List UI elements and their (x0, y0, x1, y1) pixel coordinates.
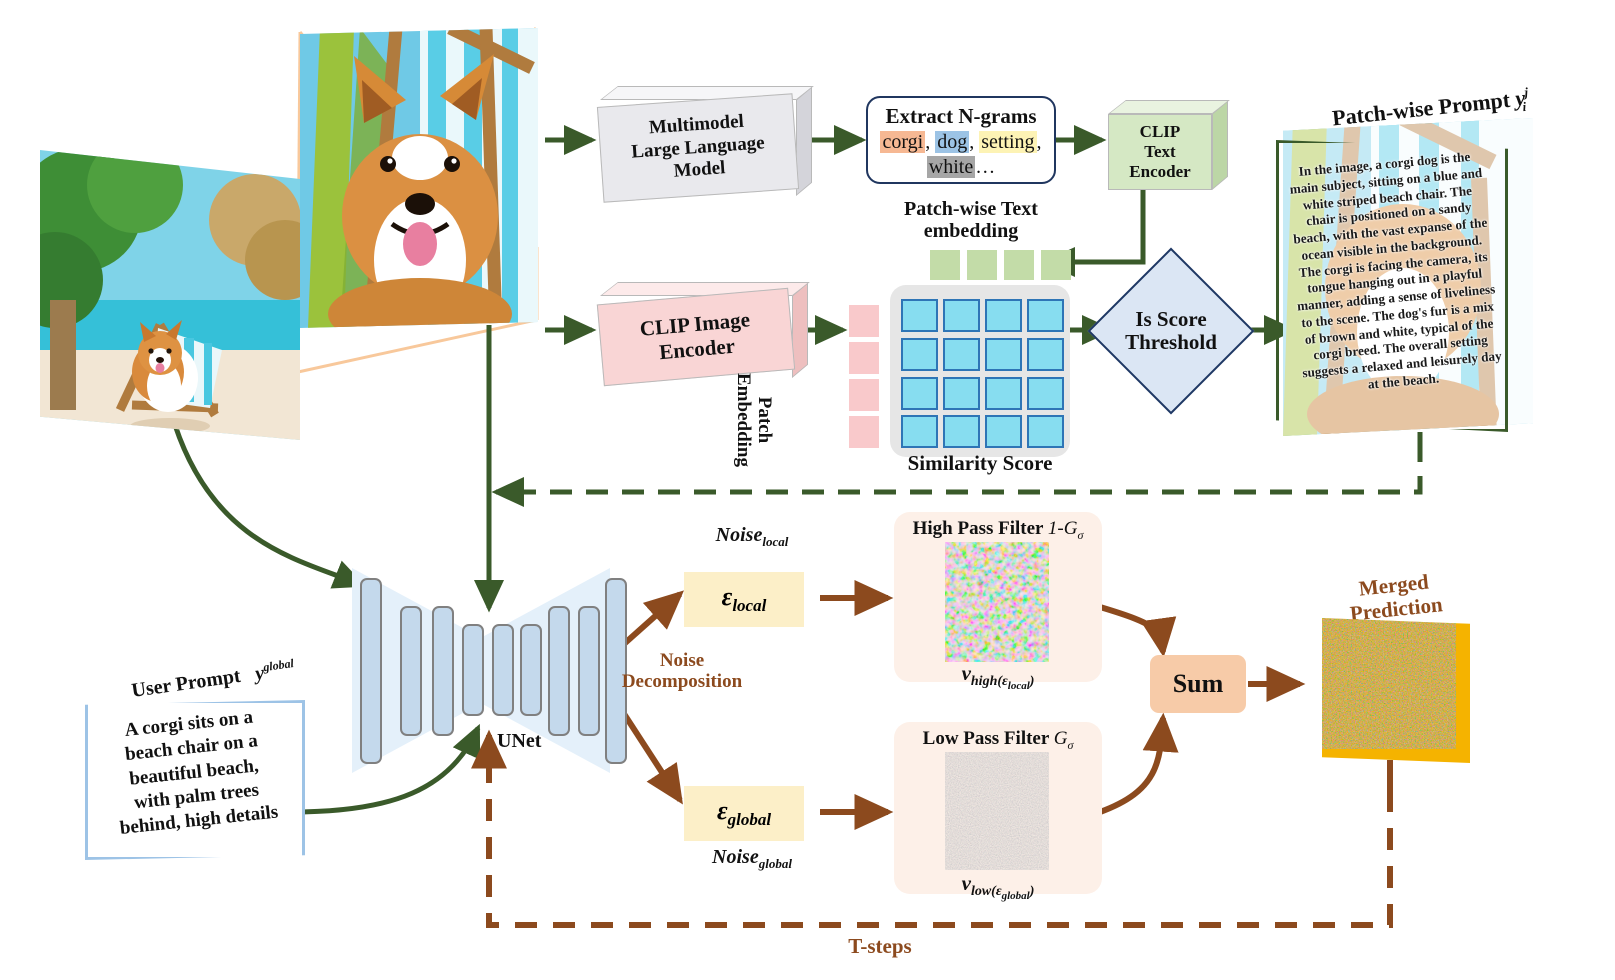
similarity-cell (985, 299, 1022, 332)
high-pass-noise-image (945, 542, 1049, 662)
user-prompt-text: A corgi sits on a beach chair on a beaut… (86, 702, 302, 844)
extract-ngrams-header: Extract N-grams (878, 104, 1044, 129)
pwte-line-2: embedding (876, 220, 1066, 242)
noise-decomposition-label: Noise Decomposition (600, 650, 764, 693)
text-embedding-chip-3 (1004, 250, 1034, 280)
clip-text-encoder-box[interactable]: CLIP Text Encoder (1108, 100, 1212, 190)
noise-local-sub: local (762, 534, 788, 549)
threshold-line-2: Threshold (1125, 331, 1217, 354)
v-low-sub2: global (1002, 890, 1030, 902)
text-embedding-chip-1 (930, 250, 960, 280)
text-embedding-chip-4 (1041, 250, 1071, 280)
ngram-ellipsis: … (975, 156, 995, 178)
t-steps-label: T-steps (790, 935, 970, 959)
v-high-sub2: local (1008, 680, 1030, 692)
low-pass-noise-image (945, 752, 1049, 870)
pwte-line-1: Patch-wise Text (876, 198, 1066, 220)
patchwise-text-embedding-label: Patch-wise Text embedding (876, 198, 1066, 243)
v-low-sym: v (962, 871, 971, 895)
mllm-box[interactable]: Multimodel Large Language Model (600, 86, 796, 196)
ngram-sep-2: , (969, 131, 979, 153)
eps-local-sym: ε (722, 582, 733, 611)
v-low-label: vlow(εglobal) (894, 872, 1102, 902)
clip-text-line-1: CLIP (1129, 122, 1190, 142)
clip-text-encoder-face: CLIP Text Encoder (1108, 114, 1212, 190)
source-image-art (40, 150, 300, 440)
patch-embedding-label-1: Patch (754, 397, 775, 443)
unet-bar (548, 606, 570, 736)
hpf-formula-main: 1-G (1048, 518, 1078, 539)
unet-bar (520, 624, 542, 716)
ngram-token-row-2: white… (878, 156, 1044, 179)
clip-text-encoder-side (1212, 101, 1228, 190)
similarity-cell (943, 415, 980, 448)
lpf-formula-main: G (1054, 728, 1068, 749)
lpf-text: Low Pass Filter (923, 728, 1049, 749)
similarity-cell (901, 338, 938, 371)
clip-text-encoder-top (1108, 100, 1230, 114)
epsilon-local-formula: εlocal (722, 582, 767, 616)
similarity-cell (943, 338, 980, 371)
similarity-cell (901, 299, 938, 332)
lpf-formula-sub: σ (1067, 738, 1073, 752)
is-score-threshold-diamond[interactable]: Is Score Threshold (1112, 272, 1230, 390)
eps-local-sub: local (732, 597, 766, 616)
similarity-cell (1027, 415, 1064, 448)
threshold-line-1: Is Score (1125, 308, 1217, 331)
pwp-sub: i (1522, 99, 1527, 114)
source-image (40, 150, 300, 440)
hpf-text: High Pass Filter (913, 518, 1044, 539)
similarity-cell (985, 377, 1022, 410)
ngram-token-row-1: corgi, dog, setting, (878, 131, 1044, 154)
patch-chip-4 (849, 416, 879, 448)
similarity-cell (985, 338, 1022, 371)
diagram-canvas: Multimodel Large Language Model Extract … (0, 0, 1615, 980)
similarity-cell (901, 377, 938, 410)
v-low-sub: low(ε (971, 884, 1002, 899)
patch-chip-1 (849, 305, 879, 337)
hpf-formula: 1-Gσ (1048, 518, 1083, 539)
zoom-crop-art (300, 28, 538, 328)
text-embedding-chip-2 (967, 250, 997, 280)
ngram-token-white: white (927, 156, 975, 178)
similarity-cell (943, 377, 980, 410)
similarity-cell (985, 415, 1022, 448)
v-high-sym: v (962, 661, 971, 685)
patch-embedding-label: Patch Embedding (732, 360, 775, 480)
mllm-box-face: Multimodel Large Language Model (597, 93, 799, 202)
patch-chip-2 (849, 342, 879, 374)
v-high-tail: ) (1030, 674, 1035, 689)
ngram-token-dog: dog (935, 131, 969, 153)
similarity-cell (1027, 299, 1064, 332)
low-pass-filter-title: Low Pass Filter Gσ (894, 728, 1102, 752)
noise-global-sub: global (759, 856, 792, 871)
ngram-token-corgi: corgi (880, 131, 925, 153)
patch-chip-3 (849, 379, 879, 411)
clip-text-line-2: Text (1129, 142, 1190, 162)
unet-label: UNet (497, 730, 587, 752)
nd-line-2: Decomposition (600, 671, 764, 692)
up-sup: global (262, 656, 294, 674)
similarity-score-grid (890, 285, 1070, 457)
v-high-sub: high(ε (971, 674, 1008, 689)
ngram-sep-1: , (925, 131, 935, 153)
unet-bar (578, 606, 600, 736)
similarity-cell (1027, 338, 1064, 371)
high-pass-filter-title: High Pass Filter 1-Gσ (894, 518, 1102, 542)
pwp-sup: j (1524, 85, 1529, 100)
unet-bar (400, 606, 422, 736)
hpf-formula-sub: σ (1077, 528, 1083, 542)
patchwise-prompt-text: In the image, a corgi dog is the main su… (1272, 147, 1516, 400)
nd-line-1: Noise (600, 650, 764, 671)
extract-ngrams-box[interactable]: Extract N-grams corgi, dog, setting, whi… (866, 96, 1056, 184)
similarity-cell (901, 415, 938, 448)
similarity-score-label: Similarity Score (890, 452, 1070, 476)
similarity-cell (1027, 377, 1064, 410)
clip-text-line-3: Encoder (1129, 162, 1190, 182)
epsilon-global-box[interactable]: εglobal (684, 786, 804, 841)
noise-local-label: Noiselocal (684, 524, 820, 550)
threshold-diamond-text: Is Score Threshold (1112, 272, 1230, 390)
merged-noise-art (1322, 618, 1456, 749)
eps-global-sym: ε (717, 796, 728, 825)
zoom-crop-image (300, 28, 538, 328)
noise-local-text: Noise (716, 524, 763, 546)
unet-bar (360, 578, 382, 764)
sum-box[interactable]: Sum (1150, 655, 1246, 713)
epsilon-local-box[interactable]: εlocal (684, 572, 804, 627)
similarity-cell (943, 299, 980, 332)
ngram-token-setting: setting (979, 131, 1036, 153)
unet-bar (492, 624, 514, 716)
ngram-sep-3: , (1037, 131, 1042, 153)
v-low-tail: ) (1030, 884, 1035, 899)
unet-bar (462, 624, 484, 716)
merged-prediction-image (1322, 618, 1470, 763)
patchwise-prompt-symbol: yji (1514, 85, 1527, 111)
lpf-formula: Gσ (1054, 728, 1074, 749)
noise-global-label: Noiseglobal (684, 846, 820, 872)
unet-bar (432, 606, 454, 736)
v-high-label: vhigh(εlocal) (894, 662, 1102, 692)
epsilon-global-formula: εglobal (717, 796, 771, 830)
eps-global-sub: global (728, 811, 771, 830)
noise-global-text: Noise (712, 846, 759, 868)
patch-embedding-label-2: Embedding (733, 373, 754, 467)
